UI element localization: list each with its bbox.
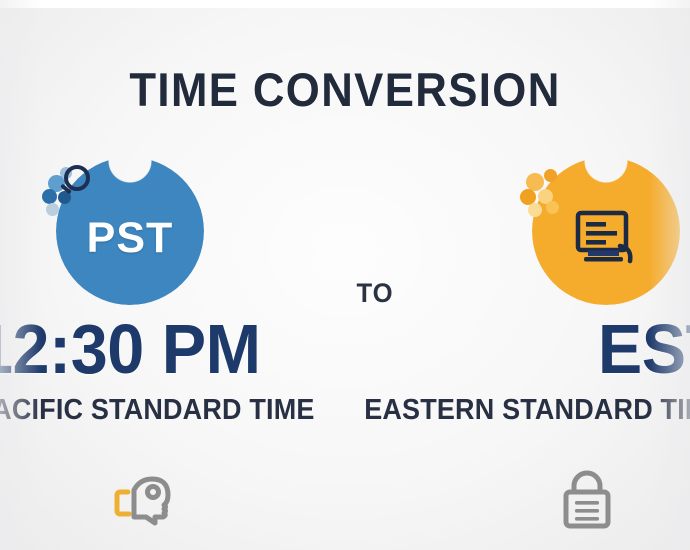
target-timezone-name: EASTERN STANDARD TIME xyxy=(364,394,690,426)
source-time-value: 12:30 PM xyxy=(0,312,322,386)
source-time-block: 12:30 PM PACIFIC STANDARD TIME xyxy=(0,312,340,426)
padlock-lines-icon xyxy=(552,466,622,536)
target-timezone-abbr: EST xyxy=(357,312,690,386)
source-badge-label: PST xyxy=(56,157,204,305)
time-conversion-graphic: TIME CONVERSION PST xyxy=(0,0,690,550)
page-title: TIME CONVERSION xyxy=(24,62,666,117)
conversion-connector: TO xyxy=(347,278,404,309)
source-timezone-name: PACIFIC STANDARD TIME xyxy=(0,394,315,426)
top-white-strip xyxy=(0,0,690,8)
monitor-document-icon xyxy=(532,157,680,305)
head-profile-icon xyxy=(112,466,182,536)
target-time-block: EST EASTERN STANDARD TIME xyxy=(337,312,690,426)
target-timezone-badge xyxy=(532,157,680,305)
source-timezone-badge: PST xyxy=(56,157,204,305)
